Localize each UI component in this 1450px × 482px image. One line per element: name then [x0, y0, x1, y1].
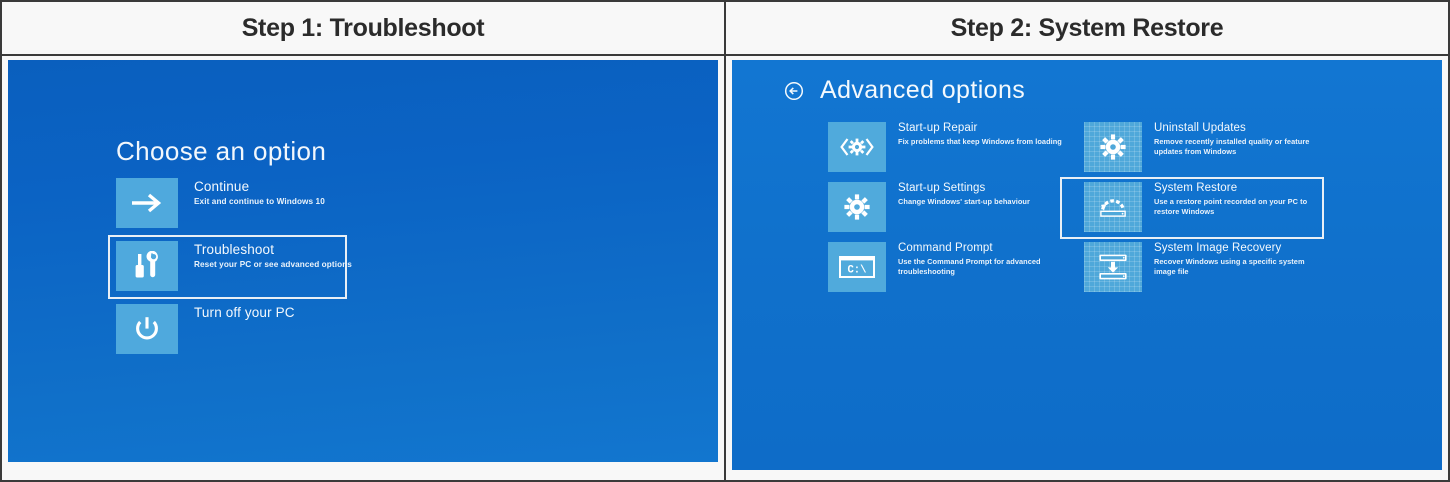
- option-turn-off-pc[interactable]: Turn off your PC: [116, 304, 556, 354]
- gear-icon: [828, 182, 886, 232]
- option-uninstall-updates-subtitle: Remove recently installed quality or fea…: [1154, 137, 1318, 156]
- option-continue-title: Continue: [194, 179, 325, 195]
- option-command-prompt-text: Command Prompt Use the Command Prompt fo…: [898, 242, 1062, 276]
- option-startup-repair-title: Start-up Repair: [898, 122, 1062, 135]
- choose-an-option-list: Continue Exit and continue to Windows 10: [116, 178, 556, 367]
- option-startup-repair-text: Start-up Repair Fix problems that keep W…: [898, 122, 1062, 147]
- option-continue[interactable]: Continue Exit and continue to Windows 10: [116, 178, 556, 228]
- advanced-options-title: Advanced options: [820, 76, 1025, 105]
- option-uninstall-updates[interactable]: Uninstall Updates Remove recently instal…: [1084, 122, 1318, 172]
- steps-comparison-table: Step 1: Troubleshoot Step 2: System Rest…: [0, 0, 1450, 482]
- option-system-restore-text: System Restore Use a restore point recor…: [1154, 182, 1318, 216]
- table-header-row: Step 1: Troubleshoot Step 2: System Rest…: [0, 0, 1450, 56]
- gear-icon: [1084, 122, 1142, 172]
- option-system-image-recovery-text: System Image Recovery Recover Windows us…: [1154, 242, 1318, 276]
- choose-an-option-title: Choose an option: [116, 136, 326, 167]
- option-command-prompt-title: Command Prompt: [898, 242, 1062, 255]
- option-turn-off-pc-title: Turn off your PC: [194, 305, 295, 321]
- option-command-prompt[interactable]: C:\ Command Prompt Use the Command Promp…: [828, 242, 1062, 292]
- gear-brackets-icon: [828, 122, 886, 172]
- svg-text:C:\: C:\: [847, 264, 866, 276]
- option-troubleshoot-subtitle: Reset your PC or see advanced options: [194, 260, 352, 270]
- option-turn-off-pc-text: Turn off your PC: [194, 304, 295, 321]
- choose-an-option-screen: Choose an option Continue Exit and c: [8, 60, 718, 462]
- advanced-options-screen: Advanced options: [732, 60, 1442, 470]
- option-troubleshoot-title: Troubleshoot: [194, 242, 352, 258]
- arrow-right-icon: [116, 178, 178, 228]
- step-1-title: Step 1: Troubleshoot: [242, 14, 485, 43]
- option-system-restore[interactable]: System Restore Use a restore point recor…: [1084, 182, 1318, 232]
- option-system-restore-subtitle: Use a restore point recorded on your PC …: [1154, 197, 1318, 216]
- option-uninstall-updates-text: Uninstall Updates Remove recently instal…: [1154, 122, 1318, 156]
- image-cell-step-1: Choose an option Continue Exit and c: [0, 56, 725, 480]
- advanced-options-header: Advanced options: [784, 76, 1025, 105]
- screwdriver-wrench-icon: [116, 241, 178, 291]
- disk-download-icon: [1084, 242, 1142, 292]
- option-system-image-recovery[interactable]: System Image Recovery Recover Windows us…: [1084, 242, 1318, 292]
- option-continue-text: Continue Exit and continue to Windows 10: [194, 178, 325, 207]
- advanced-options-grid: Start-up Repair Fix problems that keep W…: [828, 122, 1388, 292]
- option-startup-settings[interactable]: Start-up Settings Change Windows' start-…: [828, 182, 1062, 232]
- back-circle-arrow-icon[interactable]: [784, 81, 804, 101]
- option-system-image-recovery-title: System Image Recovery: [1154, 242, 1318, 255]
- restore-arrow-disk-icon: [1084, 182, 1142, 232]
- table-image-row: Choose an option Continue Exit and c: [0, 56, 1450, 482]
- option-startup-repair-subtitle: Fix problems that keep Windows from load…: [898, 137, 1062, 147]
- step-2-title: Step 2: System Restore: [951, 14, 1224, 43]
- option-system-restore-title: System Restore: [1154, 182, 1318, 195]
- image-cell-step-2: Advanced options: [725, 56, 1450, 480]
- option-command-prompt-subtitle: Use the Command Prompt for advanced trou…: [898, 257, 1062, 276]
- option-troubleshoot-text: Troubleshoot Reset your PC or see advanc…: [194, 241, 352, 270]
- option-startup-settings-text: Start-up Settings Change Windows' start-…: [898, 182, 1030, 207]
- option-startup-settings-subtitle: Change Windows' start-up behaviour: [898, 197, 1030, 207]
- option-uninstall-updates-title: Uninstall Updates: [1154, 122, 1318, 135]
- header-cell-step-1: Step 1: Troubleshoot: [0, 2, 725, 54]
- command-prompt-icon: C:\: [828, 242, 886, 292]
- option-system-image-recovery-subtitle: Recover Windows using a specific system …: [1154, 257, 1318, 276]
- option-continue-subtitle: Exit and continue to Windows 10: [194, 197, 325, 207]
- option-troubleshoot[interactable]: Troubleshoot Reset your PC or see advanc…: [116, 241, 556, 291]
- power-icon: [116, 304, 178, 354]
- option-startup-settings-title: Start-up Settings: [898, 182, 1030, 195]
- header-cell-step-2: Step 2: System Restore: [725, 2, 1450, 54]
- option-startup-repair[interactable]: Start-up Repair Fix problems that keep W…: [828, 122, 1062, 172]
